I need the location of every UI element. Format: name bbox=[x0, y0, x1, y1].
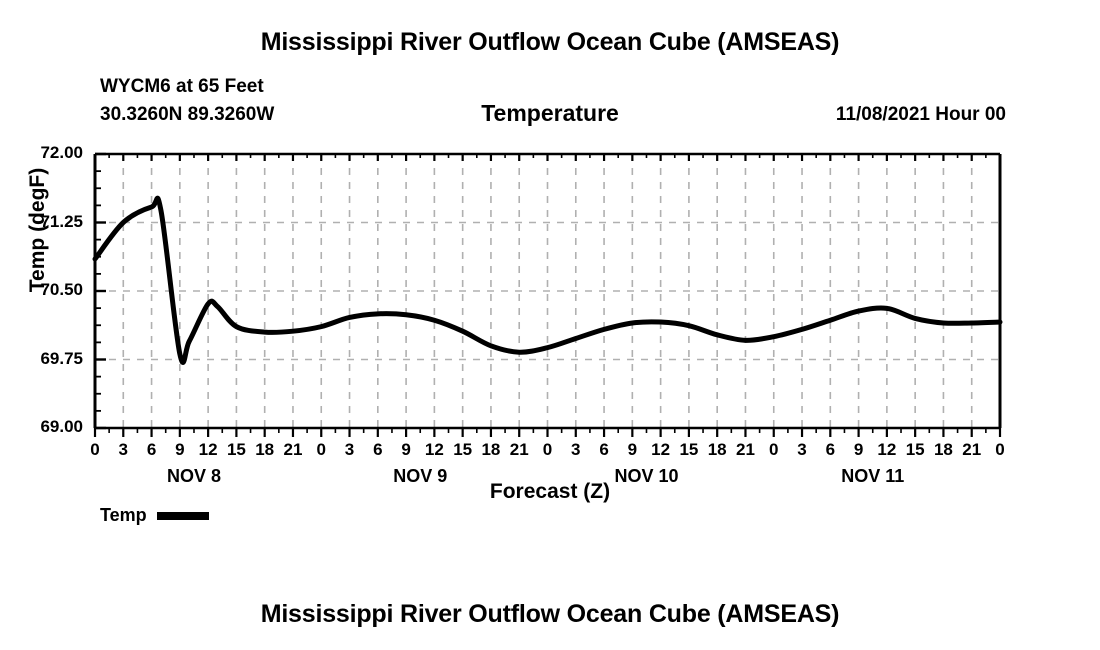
x-tick-label: 0 bbox=[80, 440, 110, 460]
day-label: NOV 9 bbox=[360, 466, 480, 487]
x-tick-label: 9 bbox=[165, 440, 195, 460]
x-tick-label: 18 bbox=[250, 440, 280, 460]
x-tick-label: 21 bbox=[957, 440, 987, 460]
x-tick-label: 0 bbox=[533, 440, 563, 460]
x-tick-label: 6 bbox=[363, 440, 393, 460]
y-tick-label: 72.00 bbox=[3, 143, 83, 163]
x-tick-label: 12 bbox=[193, 440, 223, 460]
x-tick-label: 18 bbox=[702, 440, 732, 460]
legend-label-temp: Temp bbox=[100, 505, 147, 526]
x-tick-label: 3 bbox=[787, 440, 817, 460]
legend-swatch-temp bbox=[157, 512, 209, 520]
x-tick-label: 9 bbox=[617, 440, 647, 460]
x-tick-label: 15 bbox=[448, 440, 478, 460]
x-tick-label: 3 bbox=[335, 440, 365, 460]
y-tick-label: 71.25 bbox=[3, 212, 83, 232]
x-tick-label: 3 bbox=[561, 440, 591, 460]
x-tick-label: 6 bbox=[137, 440, 167, 460]
x-tick-label: 12 bbox=[872, 440, 902, 460]
x-tick-label: 21 bbox=[730, 440, 760, 460]
y-tick-label: 69.75 bbox=[3, 349, 83, 369]
x-tick-label: 6 bbox=[589, 440, 619, 460]
x-tick-label: 21 bbox=[278, 440, 308, 460]
legend: Temp bbox=[100, 505, 209, 526]
x-tick-label: 0 bbox=[985, 440, 1015, 460]
x-tick-label: 18 bbox=[476, 440, 506, 460]
day-label: NOV 8 bbox=[134, 466, 254, 487]
x-tick-label: 15 bbox=[900, 440, 930, 460]
x-tick-label: 9 bbox=[391, 440, 421, 460]
footer-title: Mississippi River Outflow Ocean Cube (AM… bbox=[0, 600, 1100, 629]
x-tick-label: 9 bbox=[844, 440, 874, 460]
chart-page: Mississippi River Outflow Ocean Cube (AM… bbox=[0, 0, 1100, 650]
x-tick-label: 15 bbox=[674, 440, 704, 460]
day-label: NOV 11 bbox=[813, 466, 933, 487]
temperature-time-series-plot bbox=[0, 0, 1100, 650]
x-tick-label: 12 bbox=[419, 440, 449, 460]
y-tick-label: 70.50 bbox=[3, 280, 83, 300]
gridlines bbox=[95, 154, 1000, 428]
x-tick-label: 21 bbox=[504, 440, 534, 460]
day-label: NOV 10 bbox=[586, 466, 706, 487]
x-tick-label: 12 bbox=[646, 440, 676, 460]
y-tick-label: 69.00 bbox=[3, 417, 83, 437]
x-tick-label: 0 bbox=[759, 440, 789, 460]
x-tick-label: 3 bbox=[108, 440, 138, 460]
x-tick-label: 0 bbox=[306, 440, 336, 460]
x-tick-label: 18 bbox=[928, 440, 958, 460]
x-tick-label: 15 bbox=[221, 440, 251, 460]
x-tick-label: 6 bbox=[815, 440, 845, 460]
